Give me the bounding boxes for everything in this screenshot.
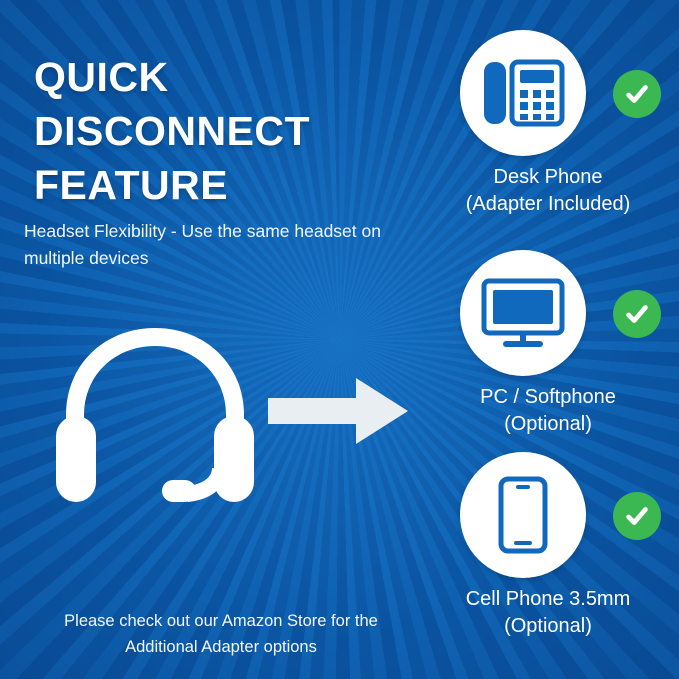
check-icon bbox=[613, 290, 661, 338]
desk-phone-icon bbox=[460, 30, 586, 156]
check-icon bbox=[613, 70, 661, 118]
page-title-line1: QUICK DISCONNECT bbox=[34, 50, 434, 158]
headset-icon bbox=[40, 320, 270, 510]
device-label-line1: Desk Phone bbox=[494, 166, 603, 188]
device-label-line1: Cell Phone 3.5mm bbox=[466, 588, 631, 610]
device-label-line2: (Adapter Included) bbox=[388, 191, 679, 218]
device-label-cell-phone: Cell Phone 3.5mm (Optional) bbox=[388, 586, 679, 640]
device-label-line1: PC / Softphone bbox=[480, 386, 616, 408]
subtitle-text: Headset Flexibility - Use the same heads… bbox=[24, 218, 424, 272]
device-label-line2: (Optional) bbox=[388, 411, 679, 438]
device-label-pc-softphone: PC / Softphone (Optional) bbox=[388, 384, 679, 438]
footnote-line2: Additional Adapter options bbox=[26, 634, 416, 660]
device-label-line2: (Optional) bbox=[388, 613, 679, 640]
promo-image: QUICK DISCONNECT FEATURE Headset Flexibi… bbox=[0, 0, 679, 679]
cell-phone-icon bbox=[460, 452, 586, 578]
footnote-line1: Please check out our Amazon Store for th… bbox=[26, 608, 416, 634]
footnote-text: Please check out our Amazon Store for th… bbox=[26, 608, 416, 661]
right-arrow-icon bbox=[268, 378, 408, 444]
monitor-icon bbox=[460, 250, 586, 376]
content-layer: QUICK DISCONNECT FEATURE Headset Flexibi… bbox=[0, 0, 679, 679]
page-title-line2: FEATURE bbox=[34, 158, 434, 212]
device-label-desk-phone: Desk Phone (Adapter Included) bbox=[388, 164, 679, 218]
check-icon bbox=[613, 492, 661, 540]
page-title: QUICK DISCONNECT FEATURE bbox=[34, 50, 434, 212]
